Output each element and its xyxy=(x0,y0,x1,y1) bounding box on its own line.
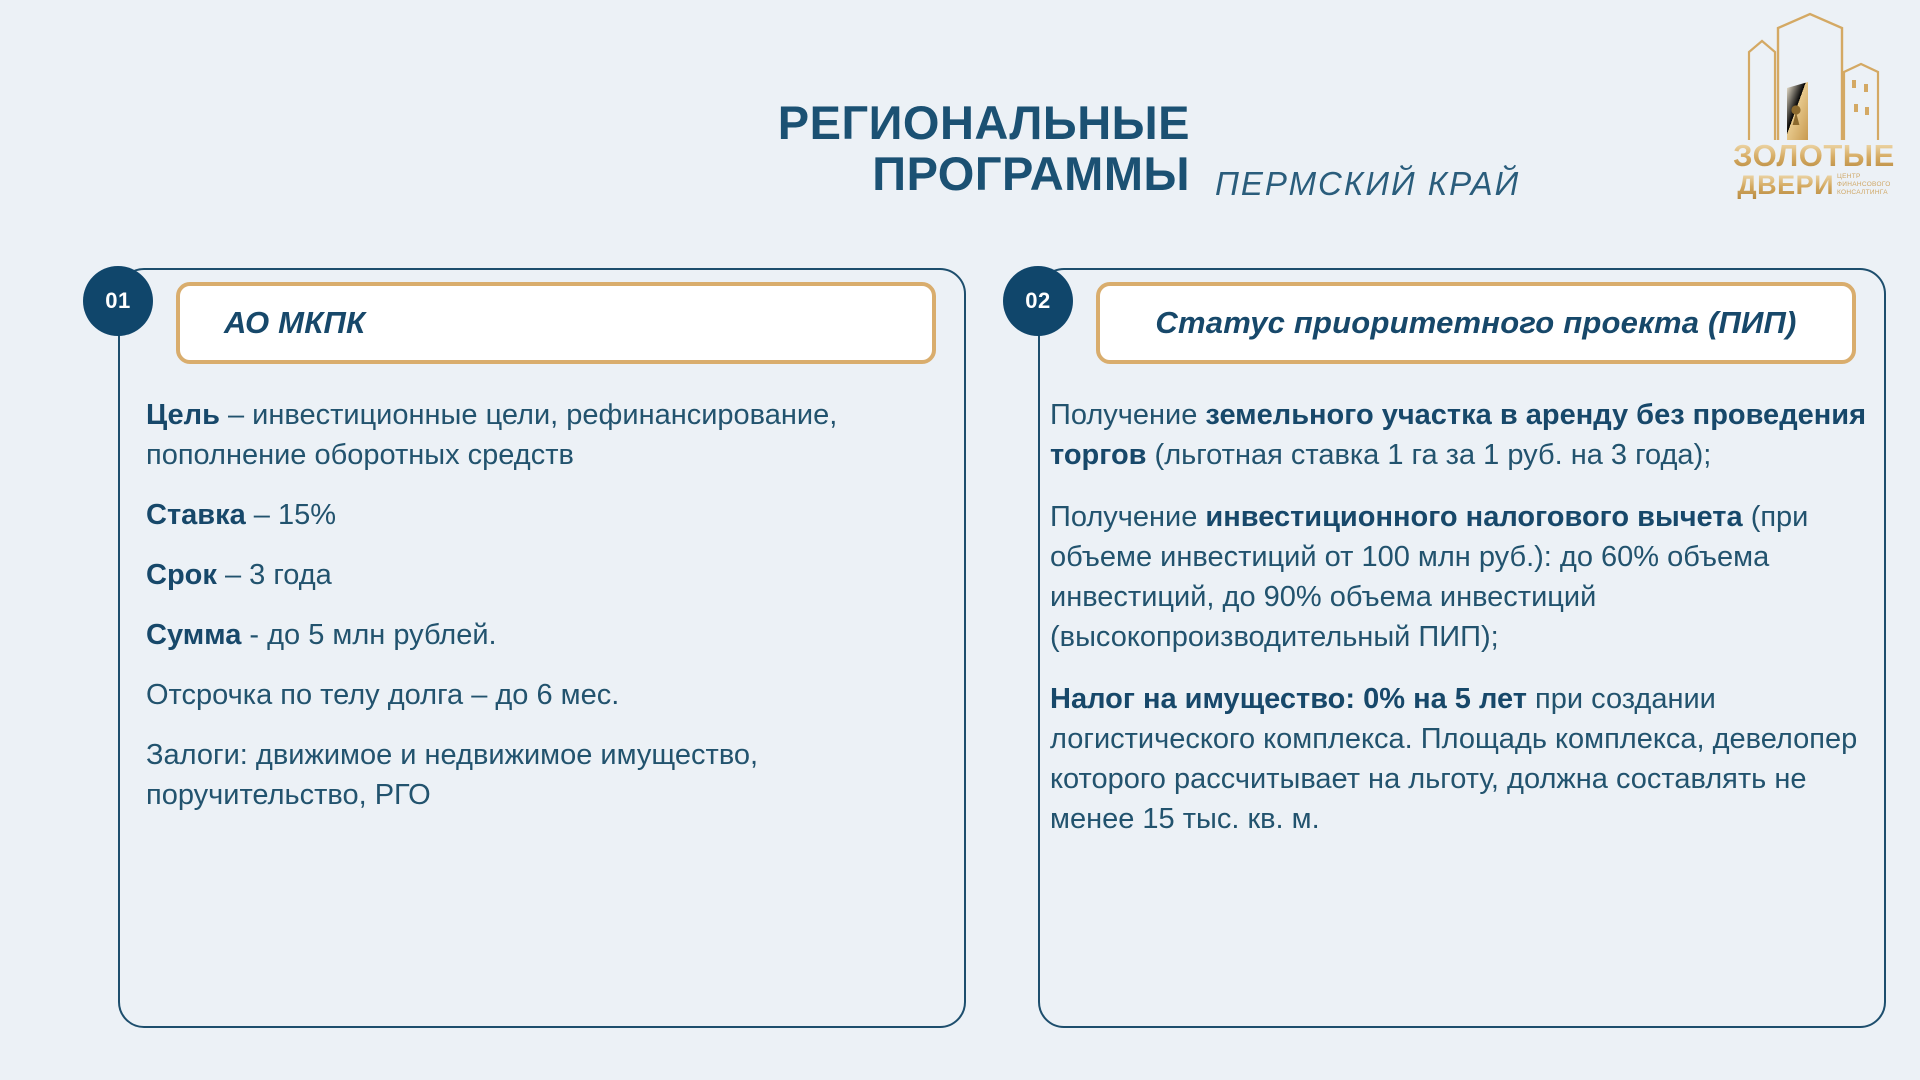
logo-buildings-icon xyxy=(1718,12,1910,144)
text-run-bold: Срок xyxy=(146,559,217,591)
card-body-2: Получение земельного участка в аренду бе… xyxy=(1050,395,1880,861)
text-run: Отсрочка по телу долга – до 6 мес. xyxy=(146,679,619,711)
logo-wordmark: ЗОЛОТЫЕ ДВЕРИ ЦЕНТР ФИНАНСОВОГО КОНСАЛТИ… xyxy=(1718,140,1910,199)
card-2-paragraph: Налог на имущество: 0% на 5 лет при созд… xyxy=(1050,679,1880,839)
text-run-bold: Сумма xyxy=(146,619,241,651)
text-run-bold: Ставка xyxy=(146,499,246,531)
card-title-pill-2: Статус приоритетного проекта (ПИП) xyxy=(1096,282,1856,364)
card-1-paragraph: Срок – 3 года xyxy=(146,555,946,595)
text-run: Получение xyxy=(1050,399,1205,431)
page-title-line-2: ПРОГРАММЫ xyxy=(430,149,1190,200)
text-run: – 3 года xyxy=(217,559,332,591)
card-body-1: Цель – инвестиционные цели, рефинансиров… xyxy=(146,395,946,815)
logo-tagline-line-3: КОНСАЛТИНГА xyxy=(1837,189,1891,197)
logo-word-zolotye: ЗОЛОТЫЕ xyxy=(1718,140,1910,171)
card-title-1: АО МКПК xyxy=(180,305,932,341)
logo-tagline-line-2: ФИНАНСОВОГО xyxy=(1837,181,1891,189)
text-run-bold: Налог на имущество: 0% на 5 лет xyxy=(1050,683,1527,715)
logo-tagline: ЦЕНТР ФИНАНСОВОГО КОНСАЛТИНГА xyxy=(1837,173,1891,199)
slide-header: РЕГИОНАЛЬНЫЕ ПРОГРАММЫ ПЕРМСКИЙ КРАЙ xyxy=(0,0,1920,240)
card-2-paragraph: Получение земельного участка в аренду бе… xyxy=(1050,395,1880,475)
text-run-bold: инвестиционного налогового вычета xyxy=(1205,501,1742,533)
card-number-badge-1: 01 xyxy=(83,266,153,336)
page-title-line-1: РЕГИОНАЛЬНЫЕ xyxy=(430,98,1190,149)
text-run: (льготная ставка 1 га за 1 руб. на 3 год… xyxy=(1147,439,1712,471)
card-1-paragraph: Залоги: движимое и недвижимое имущество,… xyxy=(146,735,946,815)
card-title-pill-1: АО МКПК xyxy=(176,282,936,364)
page-title: РЕГИОНАЛЬНЫЕ ПРОГРАММЫ xyxy=(430,98,1190,200)
company-logo: ЗОЛОТЫЕ ДВЕРИ ЦЕНТР ФИНАНСОВОГО КОНСАЛТИ… xyxy=(1718,12,1910,212)
page-subtitle-region: ПЕРМСКИЙ КРАЙ xyxy=(1215,165,1520,203)
text-run: Получение xyxy=(1050,501,1205,533)
text-run: Залоги: движимое и недвижимое имущество,… xyxy=(146,739,758,811)
card-1-paragraph: Ставка – 15% xyxy=(146,495,946,535)
text-run: – 15% xyxy=(246,499,336,531)
card-title-2: Статус приоритетного проекта (ПИП) xyxy=(1100,305,1852,341)
logo-word-dveri: ДВЕРИ xyxy=(1737,172,1834,199)
logo-tagline-line-1: ЦЕНТР xyxy=(1837,173,1891,181)
card-2-paragraph: Получение инвестиционного налогового выч… xyxy=(1050,497,1880,657)
card-1-paragraph: Сумма - до 5 млн рублей. xyxy=(146,615,946,655)
text-run-bold: Цель xyxy=(146,399,220,431)
card-1-paragraph: Отсрочка по телу долга – до 6 мес. xyxy=(146,675,946,715)
text-run: – инвестиционные цели, рефинансирование,… xyxy=(146,399,837,471)
text-run: - до 5 млн рублей. xyxy=(241,619,496,651)
card-1-paragraph: Цель – инвестиционные цели, рефинансиров… xyxy=(146,395,946,475)
card-number-badge-2: 02 xyxy=(1003,266,1073,336)
